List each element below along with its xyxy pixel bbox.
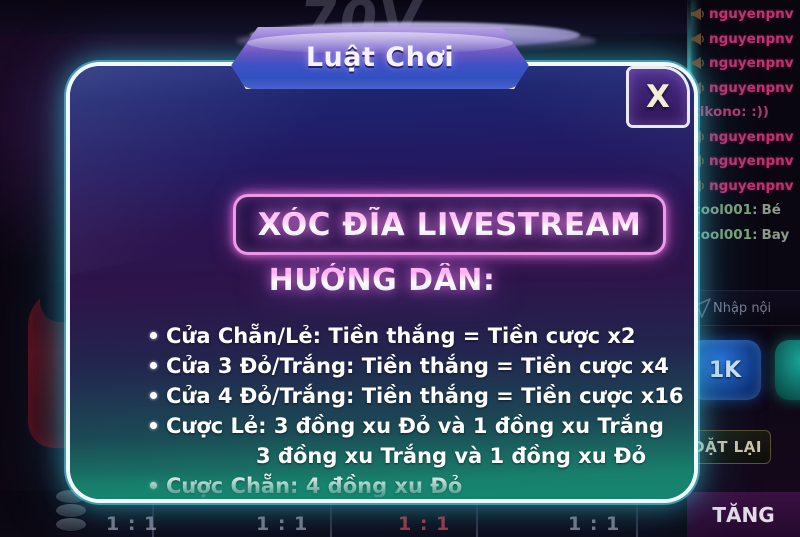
rule-item: 3 đồng xu Trắng và 1 đồng xu Đỏ <box>70 441 694 471</box>
chat-username: otikono: :)) <box>687 104 769 120</box>
chat-username: nguyenpnv <box>709 31 794 47</box>
megaphone-icon <box>690 56 706 70</box>
game-screen: 70V 1 : 1 1 : 1 1 : 1 1 : 1 nguyenpnv ng… <box>0 0 800 537</box>
rule-item: Cược Lẻ: 3 đồng xu Đỏ và 1 đồng xu Trắng <box>70 411 694 441</box>
rules-dialog: XÓC ĐĨA LIVESTREAM HƯỚNG DẪN: Cửa Chẵn/L… <box>70 66 694 499</box>
chat-username: nguyenpnv <box>709 153 794 169</box>
chat-username: nguyenpnv <box>709 129 794 145</box>
chat-message: nguyenpnv <box>687 174 800 199</box>
chat-username: xcool001: <box>687 227 757 243</box>
reset-bet-label: ĐẶT LẠI <box>692 438 762 456</box>
megaphone-icon <box>690 32 706 46</box>
chat-message: nguyenpnv <box>687 51 800 76</box>
chat-message: nguyenpnv <box>687 76 800 101</box>
odds-value: 1 : 1 <box>568 513 620 535</box>
reset-bet-button[interactable]: ĐẶT LẠI <box>687 430 771 464</box>
chat-message: xcool001: Bé <box>687 198 800 223</box>
rule-text: Cược Lẻ: 3 đồng xu Đỏ và 1 đồng xu Trắng <box>166 411 664 441</box>
megaphone-icon <box>690 7 706 21</box>
odds-value: 1 : 1 <box>256 513 308 535</box>
chat-username: nguyenpnv <box>709 6 794 22</box>
increase-bet-label: TĂNG <box>712 503 774 527</box>
bullet-icon <box>150 362 157 369</box>
chat-input-bar[interactable]: Nhập nội <box>687 290 800 326</box>
rule-item: Cửa 4 Đỏ/Trắng: Tiền thắng = Tiền cược x… <box>70 381 694 411</box>
rule-item: Cửa 3 Đỏ/Trắng: Tiền thắng = Tiền cược x… <box>70 351 694 381</box>
close-icon: X <box>646 82 670 113</box>
chat-username: nguyenpnv <box>709 80 794 96</box>
chip-1k-label: 1K <box>709 358 741 383</box>
odds-divider <box>636 497 638 537</box>
chat-message: nguyenpnv <box>687 27 800 52</box>
chat-message: nguyenpnv <box>687 2 800 27</box>
rules-list: Cửa Chẵn/Lẻ: Tiền thắng = Tiền cược x2 C… <box>70 321 694 499</box>
odds-value: 1 : 1 <box>398 513 450 535</box>
chat-message: nguyenpnv <box>687 125 800 150</box>
bullet-icon <box>150 482 157 489</box>
chat-sidebar[interactable]: nguyenpnv nguyenpnv nguyenpnv nguyenpnv … <box>687 0 800 537</box>
chat-input-placeholder[interactable]: Nhập nội <box>713 301 771 316</box>
chat-text: Bay <box>761 227 789 243</box>
bullet-icon <box>150 422 157 429</box>
odds-value: 1 : 1 <box>106 513 158 535</box>
chat-message: xcool001: Bay <box>687 223 800 248</box>
chat-username: nguyenpnv <box>709 178 794 194</box>
chat-username: nguyenpnv <box>709 55 794 71</box>
dialog-title: Luật Chơi <box>231 27 529 89</box>
bullet-icon <box>150 332 157 339</box>
rule-item: Cược Chẵn: 4 đồng xu Đỏ <box>70 471 694 499</box>
rule-text: 3 đồng xu Trắng và 1 đồng xu Đỏ <box>256 441 646 471</box>
dialog-title-banner: Luật Chơi <box>231 27 529 89</box>
chip-next-button[interactable] <box>775 340 800 400</box>
chat-text: Bé <box>761 202 780 218</box>
chat-message: nguyenpnv <box>687 149 800 174</box>
odds-divider <box>476 497 478 537</box>
close-button[interactable]: X <box>629 69 687 125</box>
odds-divider <box>330 497 332 537</box>
chat-username: xcool001: <box>687 202 757 218</box>
rule-text: Cửa 4 Đỏ/Trắng: Tiền thắng = Tiền cược x… <box>166 381 683 411</box>
rule-text: Cược Chẵn: 4 đồng xu Đỏ <box>166 471 462 499</box>
chip-1k-button[interactable]: 1K <box>689 340 761 400</box>
bullet-icon <box>150 392 157 399</box>
rule-text: Cửa Chẵn/Lẻ: Tiền thắng = Tiền cược x2 <box>166 321 636 351</box>
chat-message: otikono: :)) <box>687 100 800 125</box>
chat-message-list[interactable]: nguyenpnv nguyenpnv nguyenpnv nguyenpnv … <box>687 2 800 247</box>
instructions-heading: HƯỚNG DẪN: <box>70 263 694 298</box>
increase-bet-button[interactable]: TĂNG <box>687 492 800 537</box>
game-title-box: XÓC ĐĨA LIVESTREAM <box>233 194 666 255</box>
rule-text: Cửa 3 Đỏ/Trắng: Tiền thắng = Tiền cược x… <box>166 351 669 381</box>
game-title: XÓC ĐĨA LIVESTREAM <box>258 207 642 243</box>
rule-item: Cửa Chẵn/Lẻ: Tiền thắng = Tiền cược x2 <box>70 321 694 351</box>
